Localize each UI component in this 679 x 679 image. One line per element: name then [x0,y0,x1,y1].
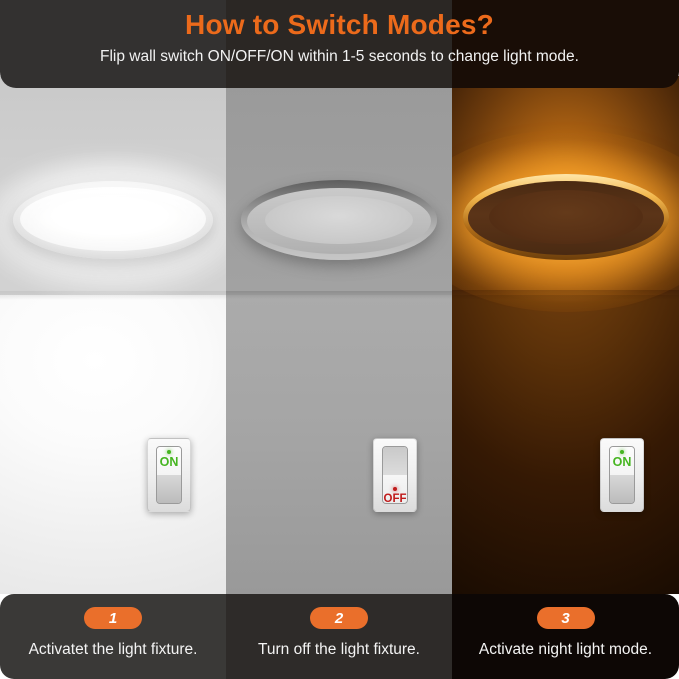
step-number-badge-2: 2 [310,607,368,629]
wall-surface-1 [0,295,226,594]
how-to-switch-modes-infographic: How to Switch Modes? Flip wall switch ON… [0,0,679,679]
rocker-lower-half-3 [610,475,634,503]
fixture-inner-body-3 [489,190,643,244]
switch-indicator-dot-3 [620,450,624,454]
scene-panel-night-light: ON [452,76,679,594]
scene-panel-light-off: OFF [226,76,452,594]
step-segment-1: 1 Activatet the light fixture. [0,594,226,679]
wall-switch-3[interactable]: ON [600,438,644,512]
ceiling-light-fixture-night [463,174,669,260]
ceiling-light-fixture-off [241,180,437,260]
header-banner: How to Switch Modes? Flip wall switch ON… [0,0,679,88]
step-segment-2: 2 Turn off the light fixture. [226,594,452,679]
scene-panels: ON OFF [0,76,679,594]
step-caption-3: Activate night light mode. [479,640,652,660]
switch-indicator-dot-1 [167,450,171,454]
step-caption-1: Activatet the light fixture. [29,640,198,660]
wall-surface-2 [226,295,452,594]
step-number-badge-3: 3 [537,607,595,629]
scene-panel-light-on: ON [0,76,226,594]
fixture-lens-2 [265,196,413,244]
step-segment-3: 3 Activate night light mode. [452,594,679,679]
rocker-lower-half-1 [157,475,181,503]
header-text-group: How to Switch Modes? Flip wall switch ON… [0,0,679,88]
wall-switch-2[interactable]: OFF [373,438,417,512]
step-caption-2: Turn off the light fixture. [258,640,420,660]
fixture-lens-1 [39,196,187,241]
ceiling-wall-junction-2 [226,291,452,299]
wall-switch-1[interactable]: ON [147,438,191,512]
switch-indicator-dot-2 [393,487,397,491]
step-caption-bar: 1 Activatet the light fixture. 2 Turn of… [0,594,679,679]
ceiling-light-fixture-on [13,181,213,259]
switch-state-label-3: ON [600,456,644,469]
page-subtitle: Flip wall switch ON/OFF/ON within 1-5 se… [100,46,579,68]
switch-state-label-1: ON [147,456,191,469]
wall-surface-3 [452,295,679,594]
switch-state-label-2: OFF [373,493,417,506]
rocker-upper-half-2 [383,447,407,475]
page-title: How to Switch Modes? [185,8,494,42]
step-number-badge-1: 1 [84,607,142,629]
